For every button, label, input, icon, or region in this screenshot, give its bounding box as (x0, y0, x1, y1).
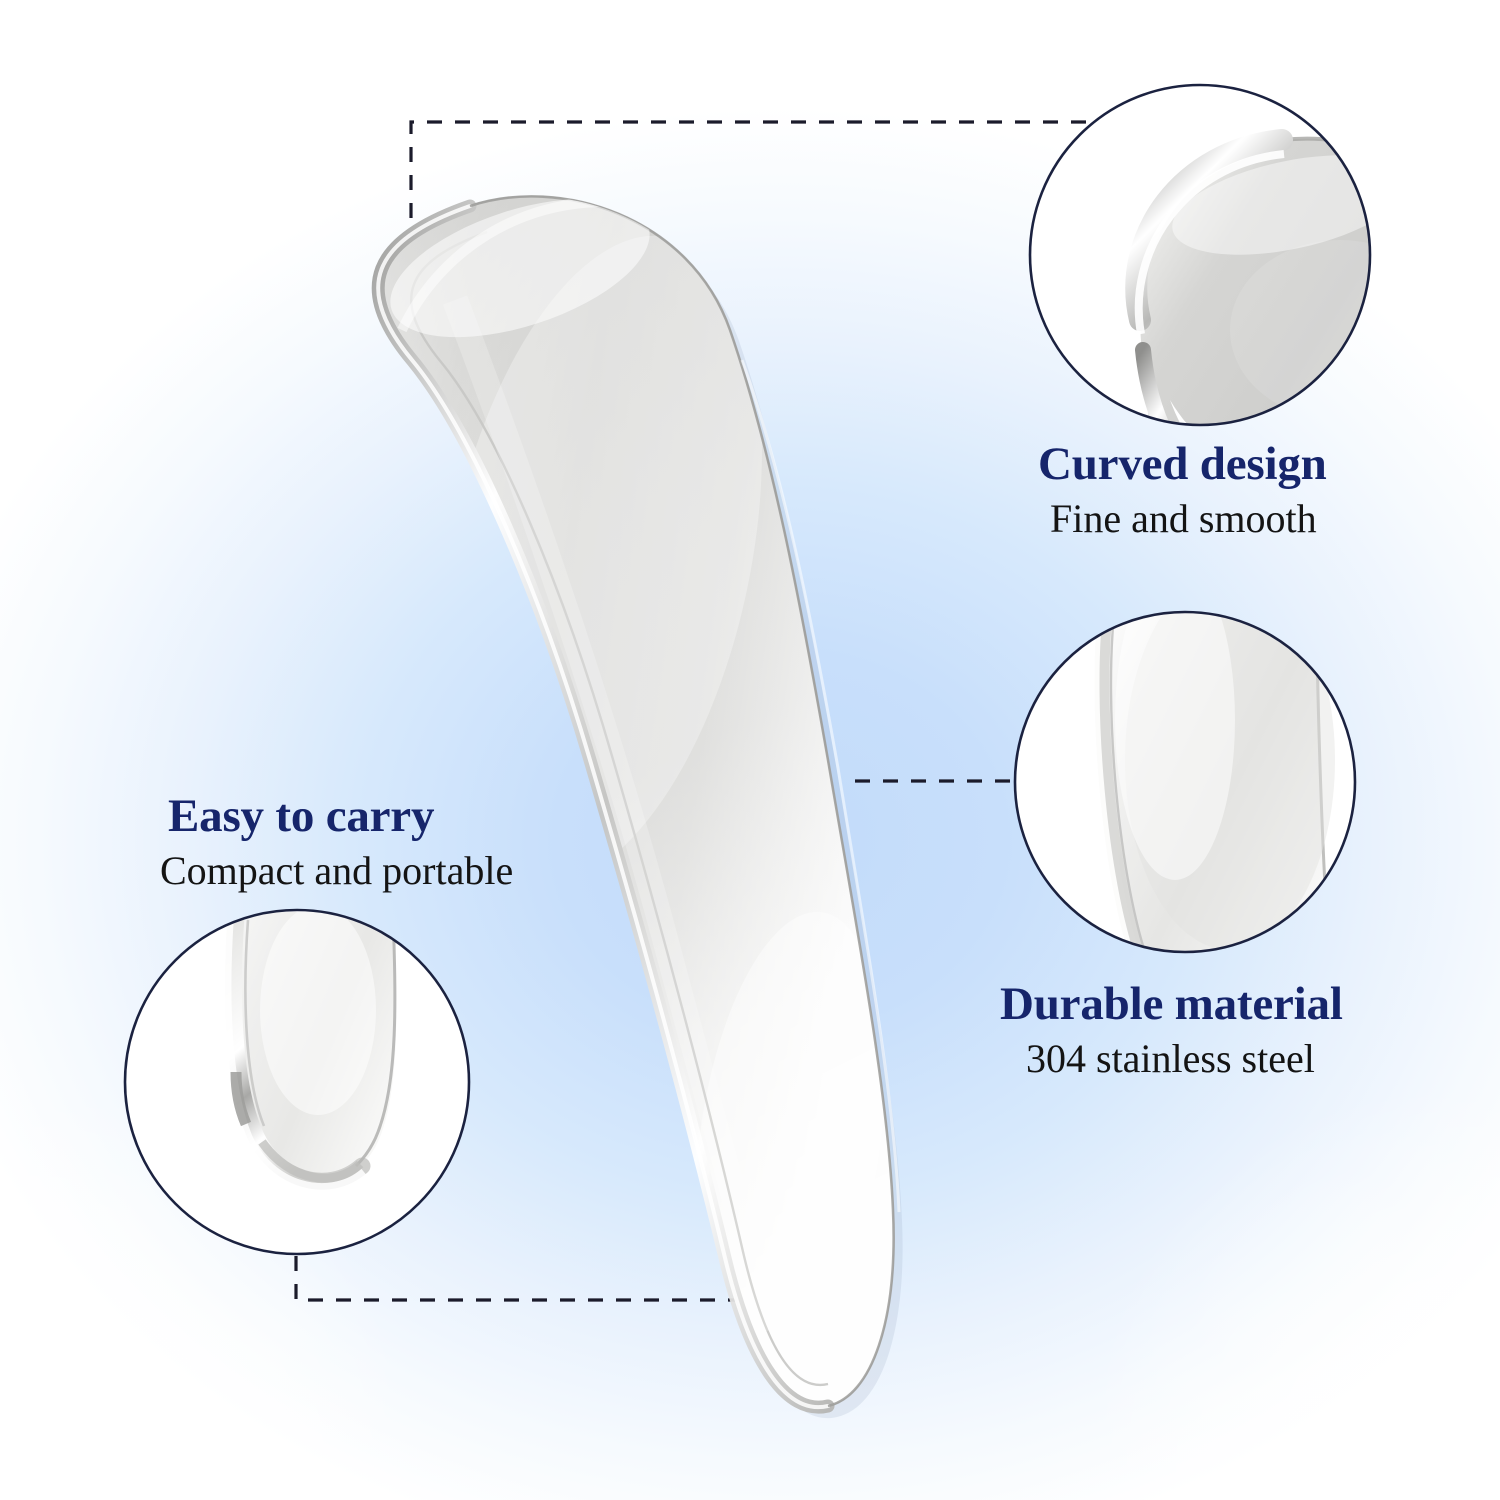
callout-text-durable-material: Durable material 304 stainless steel (1000, 980, 1343, 1081)
callout-subtitle-curved-design: Fine and smooth (1038, 497, 1327, 541)
infographic-canvas: Curved design Fine and smooth Durable ma… (0, 0, 1500, 1500)
callout-subtitle-durable-material: 304 stainless steel (1000, 1037, 1343, 1081)
callout-title-curved-design: Curved design (1038, 440, 1327, 489)
callout-subtitle-easy-to-carry: Compact and portable (160, 849, 513, 893)
callout-title-easy-to-carry: Easy to carry (160, 792, 513, 841)
callout-title-durable-material: Durable material (1000, 980, 1343, 1029)
callout-text-easy-to-carry: Easy to carry Compact and portable (160, 792, 513, 893)
callout-text-curved-design: Curved design Fine and smooth (1038, 440, 1327, 541)
callout-circle-easy-to-carry (0, 0, 1500, 1500)
